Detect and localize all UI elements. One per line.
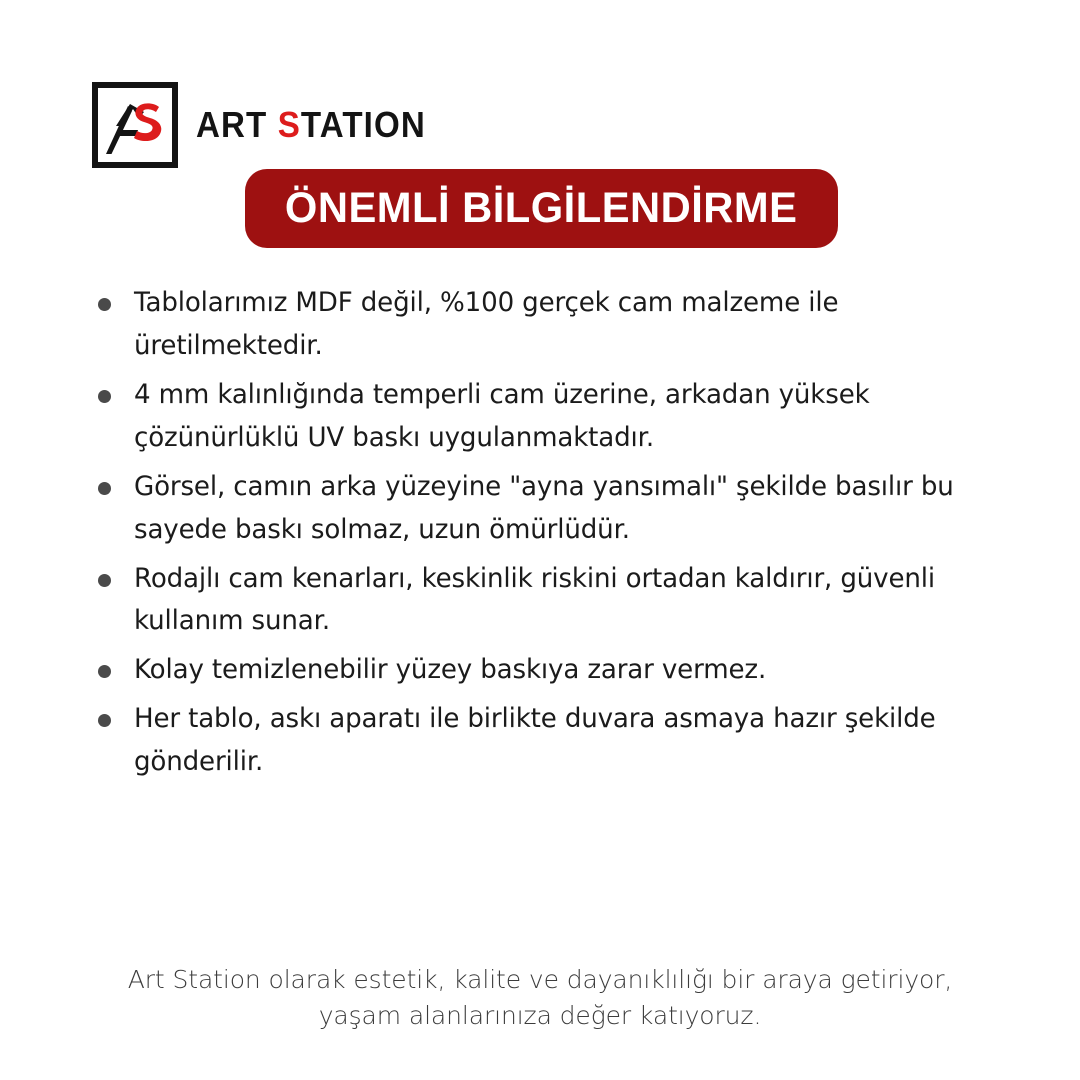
info-bullet-list: Tablolarımız MDF değil, %100 gerçek cam … [98, 282, 1028, 790]
as-monogram-icon [92, 82, 178, 168]
brand-lockup: ART STATION [92, 82, 446, 168]
bullet-dot-icon [98, 298, 111, 311]
bullet-dot-icon [98, 665, 111, 678]
banner-title: ÖNEMLİ BİLGİLENDİRME [285, 187, 798, 230]
list-item-text: Rodajlı cam kenarları, keskinlik riskini… [134, 558, 1001, 644]
bullet-dot-icon [98, 574, 111, 587]
list-item: 4 mm kalınlığında temperli cam üzerine, … [98, 374, 1028, 460]
wordmark-accent-s: S [278, 104, 301, 145]
bullet-dot-icon [98, 482, 111, 495]
poster-canvas: ART STATION ÖNEMLİ BİLGİLENDİRME Tablola… [0, 0, 1080, 1080]
list-item: Kolay temizlenebilir yüzey baskıya zarar… [98, 649, 1028, 692]
wordmark-part-art: ART [196, 104, 278, 145]
list-item: Her tablo, askı aparatı ile birlikte duv… [98, 698, 1028, 784]
footer-line-2: yaşam alanlarınıza değer katıyoruz. [90, 998, 990, 1034]
wordmark-part-tation: TATION [301, 104, 426, 145]
list-item: Rodajlı cam kenarları, keskinlik riskini… [98, 558, 1028, 644]
bullet-dot-icon [98, 390, 111, 403]
list-item-text: Görsel, camın arka yüzeyine "ayna yansım… [134, 466, 1001, 552]
list-item-text: 4 mm kalınlığında temperli cam üzerine, … [134, 374, 1001, 460]
list-item: Tablolarımız MDF değil, %100 gerçek cam … [98, 282, 1028, 368]
footer-tagline: Art Station olarak estetik, kalite ve da… [0, 962, 1080, 1033]
list-item-text: Tablolarımız MDF değil, %100 gerçek cam … [134, 282, 1001, 368]
brand-wordmark: ART STATION [196, 107, 426, 143]
footer-line-1: Art Station olarak estetik, kalite ve da… [90, 962, 990, 998]
list-item: Görsel, camın arka yüzeyine "ayna yansım… [98, 466, 1028, 552]
list-item-text: Kolay temizlenebilir yüzey baskıya zarar… [134, 649, 766, 692]
bullet-dot-icon [98, 714, 111, 727]
list-item-text: Her tablo, askı aparatı ile birlikte duv… [134, 698, 1001, 784]
banner-important-notice: ÖNEMLİ BİLGİLENDİRME [245, 169, 838, 248]
